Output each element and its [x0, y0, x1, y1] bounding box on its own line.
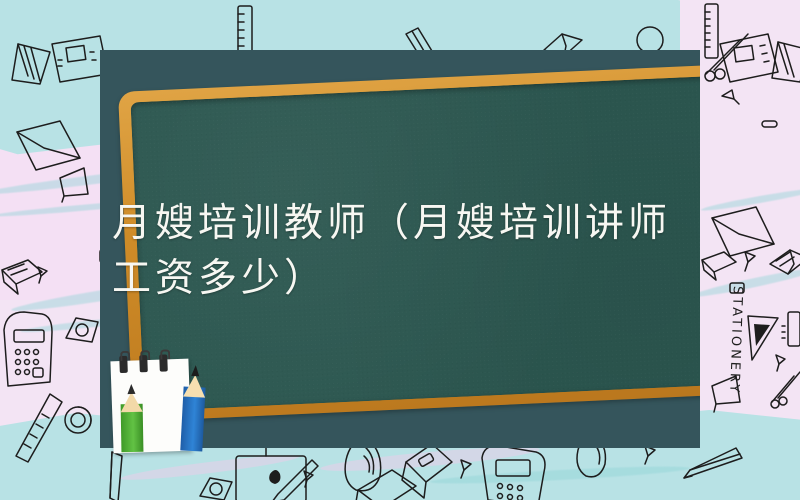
pencil-lead-tip [191, 365, 200, 376]
cover-image-canvas: STATIONERY 月嫂培训教师（月嫂培训讲师工资多少） [0, 0, 800, 500]
notebook-ring [139, 355, 148, 372]
notebook-ring [159, 354, 168, 371]
pencil-wood-tip [183, 374, 206, 397]
pencil-lead-tip [127, 384, 135, 394]
notebook-ring [119, 356, 128, 373]
desk-items [0, 0, 800, 500]
green-pencil [121, 400, 144, 452]
blue-pencil [180, 384, 205, 451]
pencil-wood-tip [120, 392, 142, 412]
